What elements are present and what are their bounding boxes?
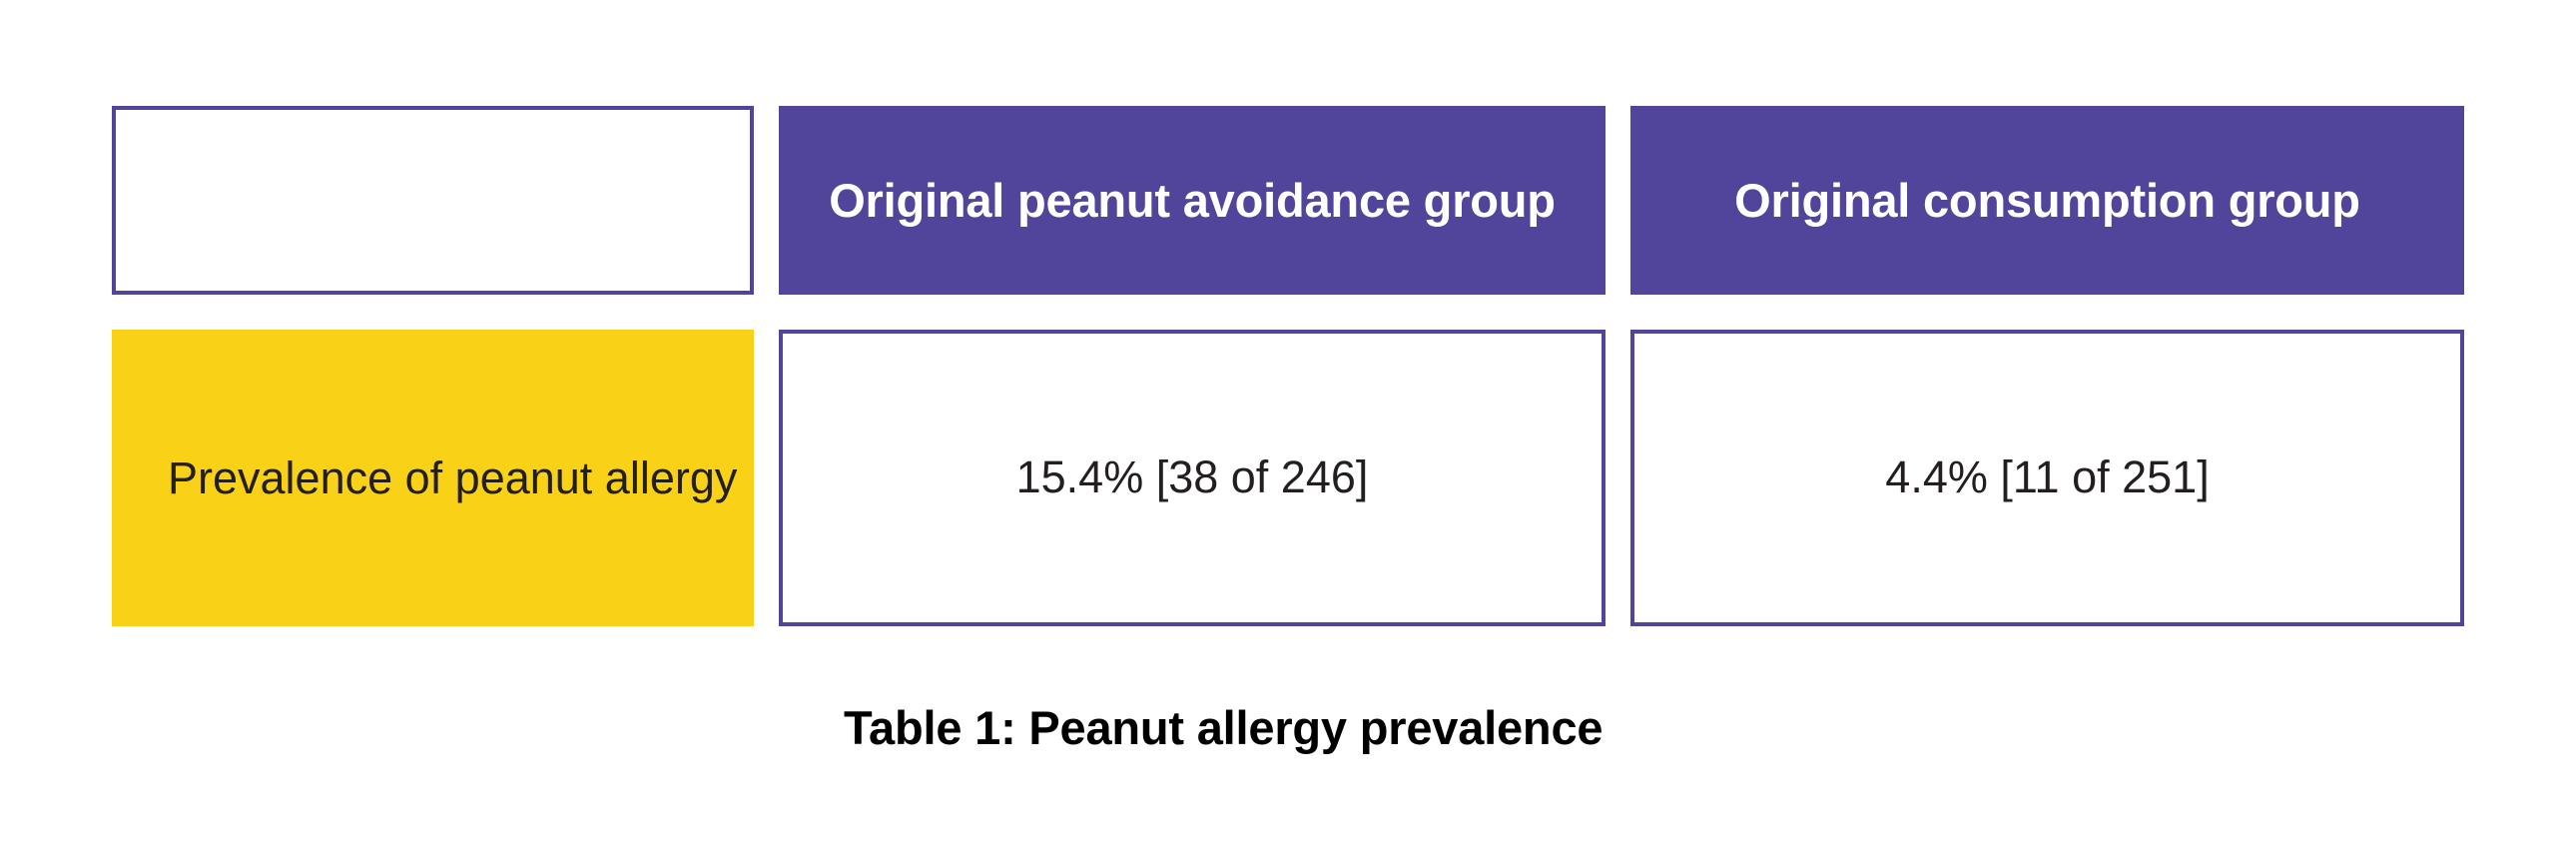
header-label-avoidance-group: Original peanut avoidance group [779, 172, 1606, 229]
row-label-prevalence-of-peanut-allergy: Prevalence of peanut allergy [112, 445, 754, 510]
value-consumption-prevalence: 4.4% [11 of 251] [1634, 448, 2460, 507]
data-cell-consumption-prevalence: 4.4% [11 of 251] [1630, 330, 2464, 626]
header-cell-empty-corner [112, 106, 754, 295]
header-cell-avoidance-group: Original peanut avoidance group [779, 106, 1606, 295]
row-label-cell-prevalence: Prevalence of peanut allergy [112, 330, 754, 626]
prevalence-table: Original peanut avoidance group Original… [112, 106, 2464, 626]
table-header-row: Original peanut avoidance group Original… [112, 106, 2464, 295]
header-cell-consumption-group: Original consumption group [1630, 106, 2464, 295]
table-caption: Table 1: Peanut allergy prevalence [844, 699, 1603, 758]
table-figure: Original peanut avoidance group Original… [0, 0, 2576, 868]
data-cell-avoidance-prevalence: 15.4% [38 of 246] [779, 330, 1606, 626]
value-avoidance-prevalence: 15.4% [38 of 246] [783, 448, 1602, 507]
table-row: Prevalence of peanut allergy 15.4% [38 o… [112, 330, 2464, 626]
header-label-consumption-group: Original consumption group [1630, 172, 2464, 229]
